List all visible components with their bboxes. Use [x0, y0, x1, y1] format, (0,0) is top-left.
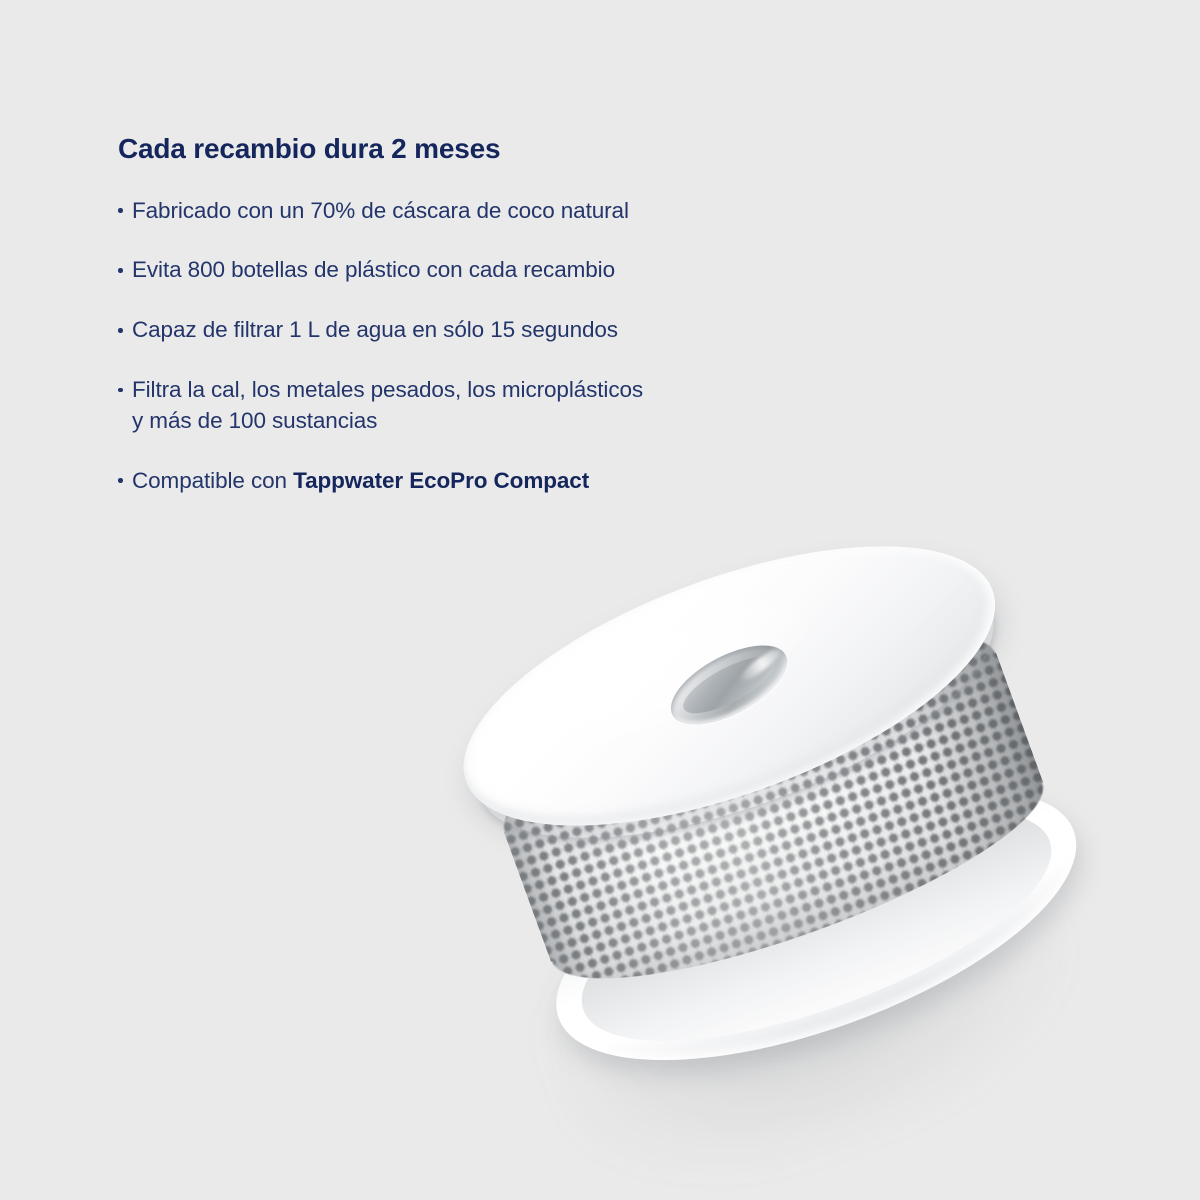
feature-text: Fabricado con un 70% de cáscara de coco …: [132, 196, 878, 227]
product-feature-panel: Cada recambio dura 2 meses Fabricado con…: [0, 0, 1200, 1200]
feature-text: Capaz de filtrar 1 L de agua en sólo 15 …: [132, 315, 878, 346]
list-item: Filtra la cal, los metales pesados, los …: [118, 375, 878, 437]
feature-text: Evita 800 botellas de plástico con cada …: [132, 255, 878, 286]
bullet-icon: [118, 208, 123, 213]
feature-text: Compatible con Tappwater EcoPro Compact: [132, 466, 878, 497]
product-image: [470, 545, 1150, 1145]
bullet-icon: [118, 388, 123, 393]
page-title: Cada recambio dura 2 meses: [118, 132, 878, 166]
bullet-icon: [118, 328, 123, 333]
feature-text-prefix: Compatible con: [132, 468, 293, 493]
center-hole-highlight: [736, 644, 784, 685]
feature-text-line-1: Filtra la cal, los metales pesados, los …: [132, 375, 878, 406]
list-item: Compatible con Tappwater EcoPro Compact: [118, 466, 878, 497]
feature-list: Fabricado con un 70% de cáscara de coco …: [118, 196, 878, 497]
feature-text-line-2: y más de 100 sustancias: [132, 406, 878, 437]
copy-block: Cada recambio dura 2 meses Fabricado con…: [118, 132, 878, 496]
list-item: Capaz de filtrar 1 L de agua en sólo 15 …: [118, 315, 878, 346]
list-item: Evita 800 botellas de plástico con cada …: [118, 255, 878, 286]
list-item: Fabricado con un 70% de cáscara de coco …: [118, 196, 878, 227]
product-name-emphasis: Tappwater EcoPro Compact: [293, 468, 589, 493]
bullet-icon: [118, 268, 123, 273]
bullet-icon: [118, 478, 123, 483]
